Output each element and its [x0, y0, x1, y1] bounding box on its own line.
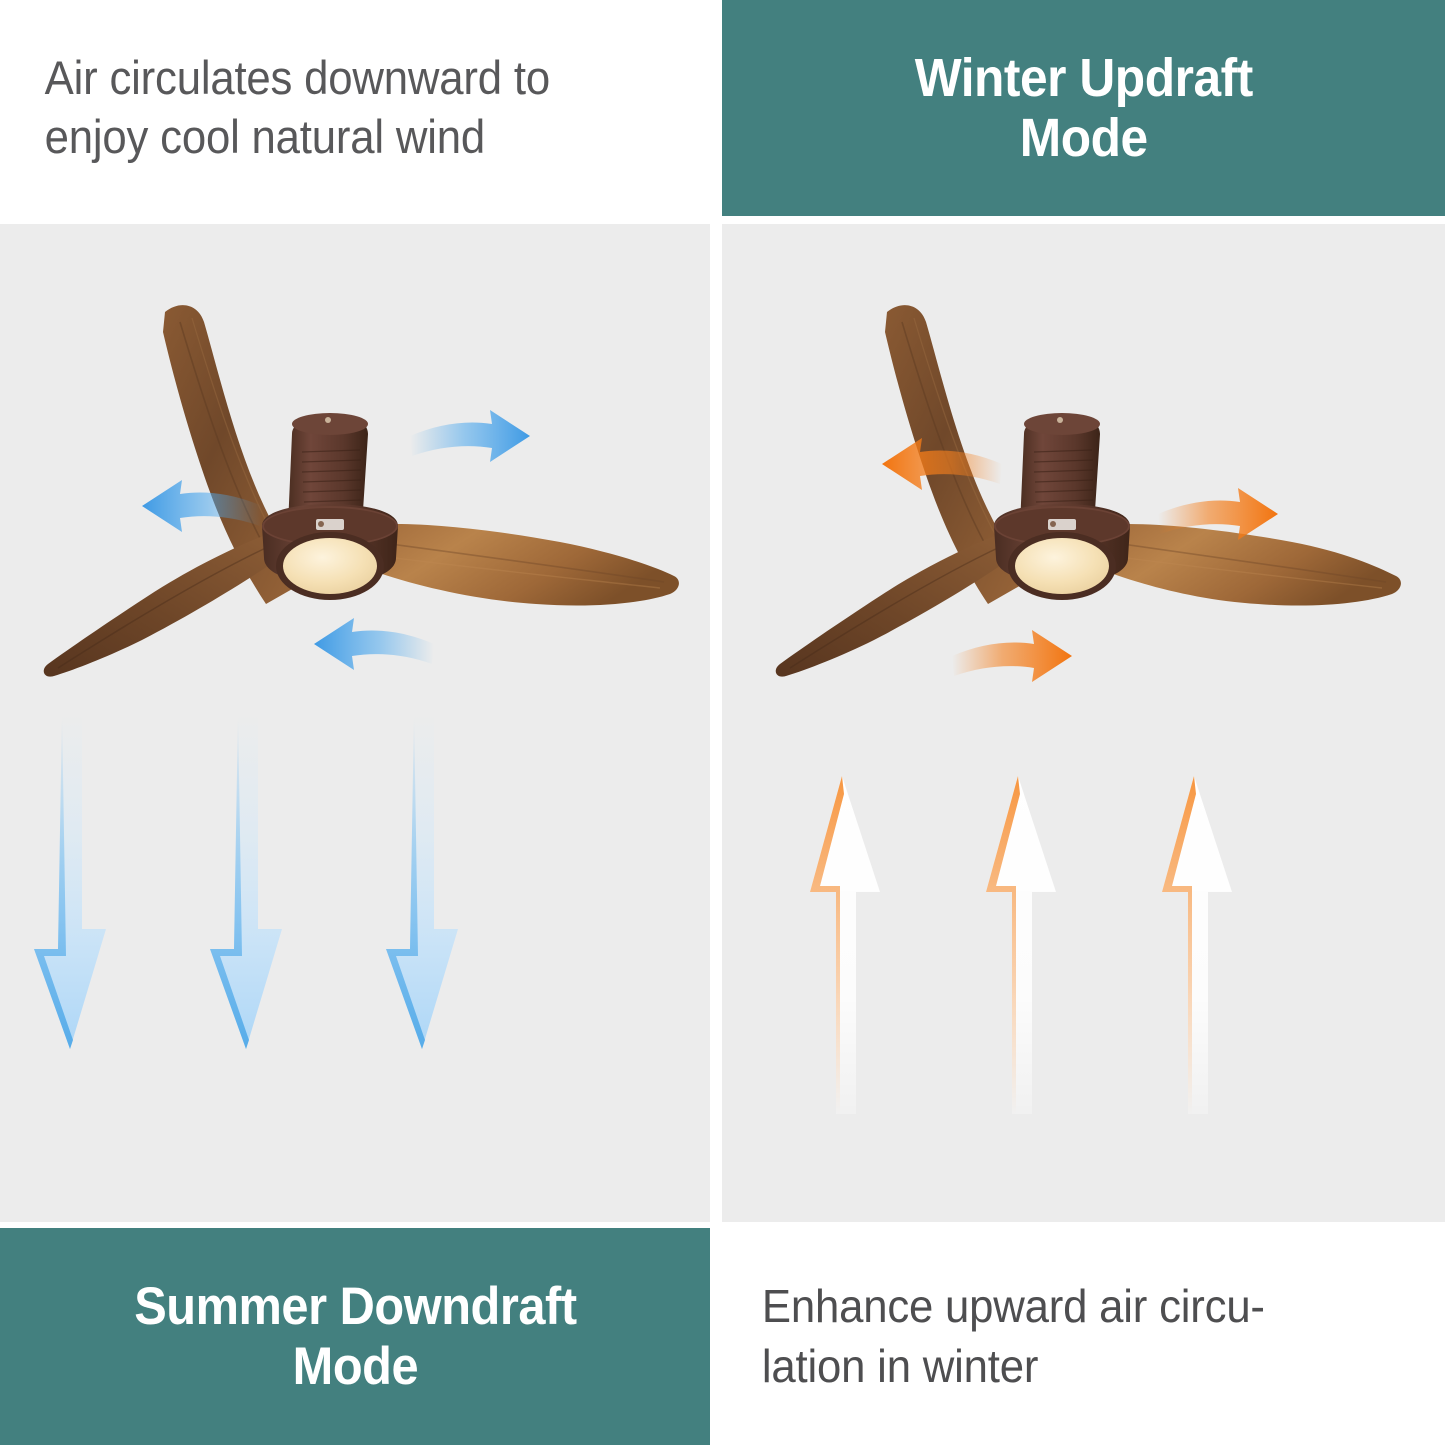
downdraft-arrow-3 [386, 712, 458, 1049]
brand-logo [1048, 519, 1076, 530]
winter-updraft-title-line2: Mode [1020, 108, 1148, 168]
winter-updraft-title-panel: Winter Updraft Mode [722, 0, 1445, 216]
bottom-right-caption-panel: Enhance upward air circu- lation in wint… [722, 1228, 1445, 1445]
downdraft-arrow-group [0, 704, 710, 1104]
summer-downdraft-image [0, 224, 710, 1222]
bottom-right-caption: Enhance upward air circu- lation in wint… [722, 1277, 1290, 1397]
updraft-arrow-1 [810, 776, 880, 1114]
top-left-caption: Air circulates downward to enjoy cool na… [0, 49, 569, 167]
orange-arrow-lower-right [952, 630, 1072, 682]
brand-logo [316, 519, 344, 530]
fan-blade-right [1092, 524, 1401, 606]
bottom-right-caption-line2: lation in winter [762, 1340, 1038, 1392]
updraft-arrow-group [722, 764, 1445, 1144]
blue-arrow-right [410, 410, 530, 462]
updraft-arrow-2 [986, 776, 1056, 1114]
winter-updraft-title: Winter Updraft Mode [914, 48, 1252, 169]
top-left-caption-line1: Air circulates downward to [45, 51, 550, 104]
downdraft-arrow-1 [34, 712, 106, 1049]
product-feature-board: Air circulates downward to enjoy cool na… [0, 0, 1445, 1445]
downdraft-arrow-2 [210, 712, 282, 1049]
winter-updraft-title-line1: Winter Updraft [914, 48, 1252, 108]
summer-downdraft-title-line2: Mode [292, 1337, 417, 1396]
winter-updraft-image [722, 224, 1445, 1222]
updraft-arrow-3 [1162, 776, 1232, 1114]
summer-downdraft-title-line1: Summer Downdraft [134, 1277, 576, 1336]
ceiling-fan-illustration-right [752, 284, 1412, 714]
summer-downdraft-title-panel: Summer Downdraft Mode [0, 1228, 710, 1445]
top-left-caption-line2: enjoy cool natural wind [45, 110, 485, 163]
bottom-right-caption-line1: Enhance upward air circu- [762, 1280, 1265, 1332]
blue-arrow-left-lower [314, 618, 434, 670]
ceiling-fan-illustration-left [30, 274, 690, 704]
summer-downdraft-title: Summer Downdraft Mode [134, 1277, 576, 1396]
top-left-caption-panel: Air circulates downward to enjoy cool na… [0, 0, 710, 216]
fan-blade-right [360, 524, 679, 606]
